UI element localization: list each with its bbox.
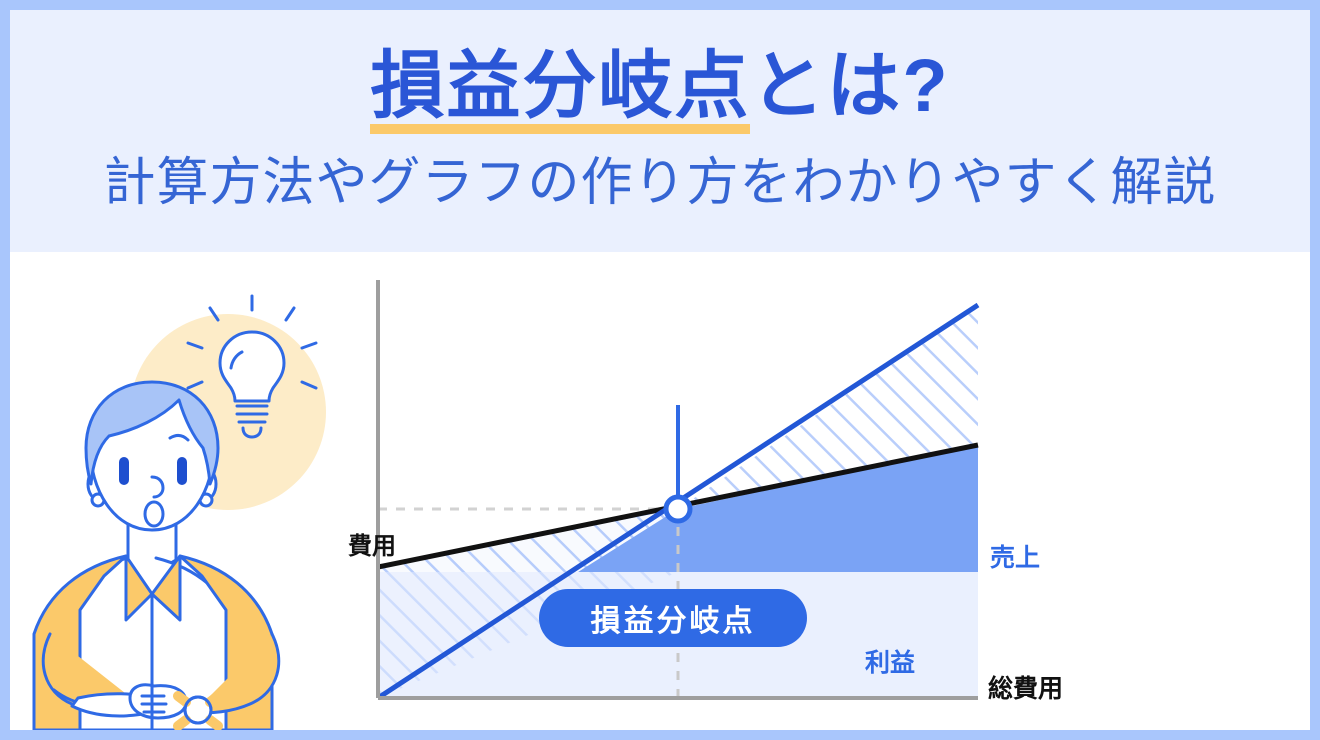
page-inner: 損益分岐点とは? 計算方法やグラフの作り方をわかりやすく解説 [10, 10, 1310, 730]
title-suffix: とは? [750, 44, 949, 127]
breakeven-point-marker [666, 497, 690, 521]
chart-label-total-cost-line: 総費用 [988, 669, 1063, 705]
title-highlighted-term: 損益分岐点 [370, 40, 750, 134]
page-title: 損益分岐点とは? [10, 40, 1310, 134]
breakeven-chart [320, 252, 1090, 730]
content-area: 損益分岐点 費用 売上高 売上 総費用 利益 変動費 固定費 損失 fr [10, 252, 1310, 730]
title-text: 損益分岐点とは? [370, 40, 949, 134]
chart-label-profit-region: 利益 [865, 643, 915, 679]
chart-y-axis-label: 費用 [348, 526, 396, 561]
subtitle-text: 計算方法やグラフの作り方をわかりやすく解説 [103, 148, 1216, 218]
breakeven-badge[interactable]: 損益分岐点 [539, 589, 807, 647]
illustration-thinking-person [30, 262, 360, 730]
header-band: 損益分岐点とは? 計算方法やグラフの作り方をわかりやすく解説 [10, 10, 1310, 252]
page-subtitle: 計算方法やグラフの作り方をわかりやすく解説 [10, 148, 1310, 218]
chart-label-sales-line: 売上 [990, 538, 1040, 574]
page-root: 損益分岐点とは? 計算方法やグラフの作り方をわかりやすく解説 [0, 0, 1320, 740]
